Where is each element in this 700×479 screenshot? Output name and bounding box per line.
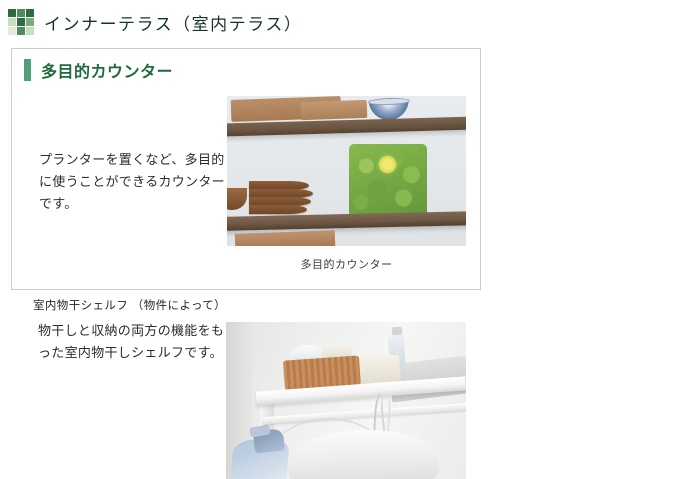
page-header: インナーテラス（室内テラス） [0, 0, 700, 44]
photo1-yellow-flower [379, 156, 396, 173]
photo1-plate [249, 205, 307, 214]
grid-cell [17, 27, 25, 35]
heading-accent-bar [24, 59, 31, 81]
section1-description: プランターを置くなど、多目的に使うことができるカウンターです。 [39, 149, 229, 215]
grid-cell [26, 18, 34, 26]
grid-cell [8, 18, 16, 26]
photo1-wooden-plates [249, 181, 313, 214]
grid-squares-icon [8, 9, 34, 35]
photo1-wood-board-3 [235, 230, 335, 246]
section-heading-label: 多目的カウンター [41, 58, 173, 82]
grid-cell [8, 27, 16, 35]
indoor-drying-shelf-photo [226, 322, 466, 479]
photo1-green-plant [349, 144, 427, 217]
grid-cell [17, 9, 25, 17]
photo1-wood-board-2 [301, 100, 368, 120]
grid-cell [17, 18, 25, 26]
section-heading-group: 多目的カウンター [24, 58, 173, 82]
section2-description: 物干しと収納の両方の機能をもった室内物干しシェルフです。 [38, 320, 228, 364]
photo2-bottle-cap [392, 327, 402, 336]
multipurpose-counter-photo [227, 96, 466, 246]
page-title: インナーテラス（室内テラス） [44, 10, 302, 35]
indoor-drying-shelf-heading: 室内物干シェルフ （物件によって） [33, 297, 226, 313]
grid-cell [26, 9, 34, 17]
photo1-caption: 多目的カウンター [227, 256, 466, 272]
grid-cell [8, 9, 16, 17]
grid-cell [26, 27, 34, 35]
page-root: インナーテラス（室内テラス） 多目的カウンター プランターを置くなど、多目的に使… [0, 0, 700, 479]
multipurpose-counter-panel: 多目的カウンター プランターを置くなど、多目的に使うことができるカウンターです。… [11, 48, 481, 290]
